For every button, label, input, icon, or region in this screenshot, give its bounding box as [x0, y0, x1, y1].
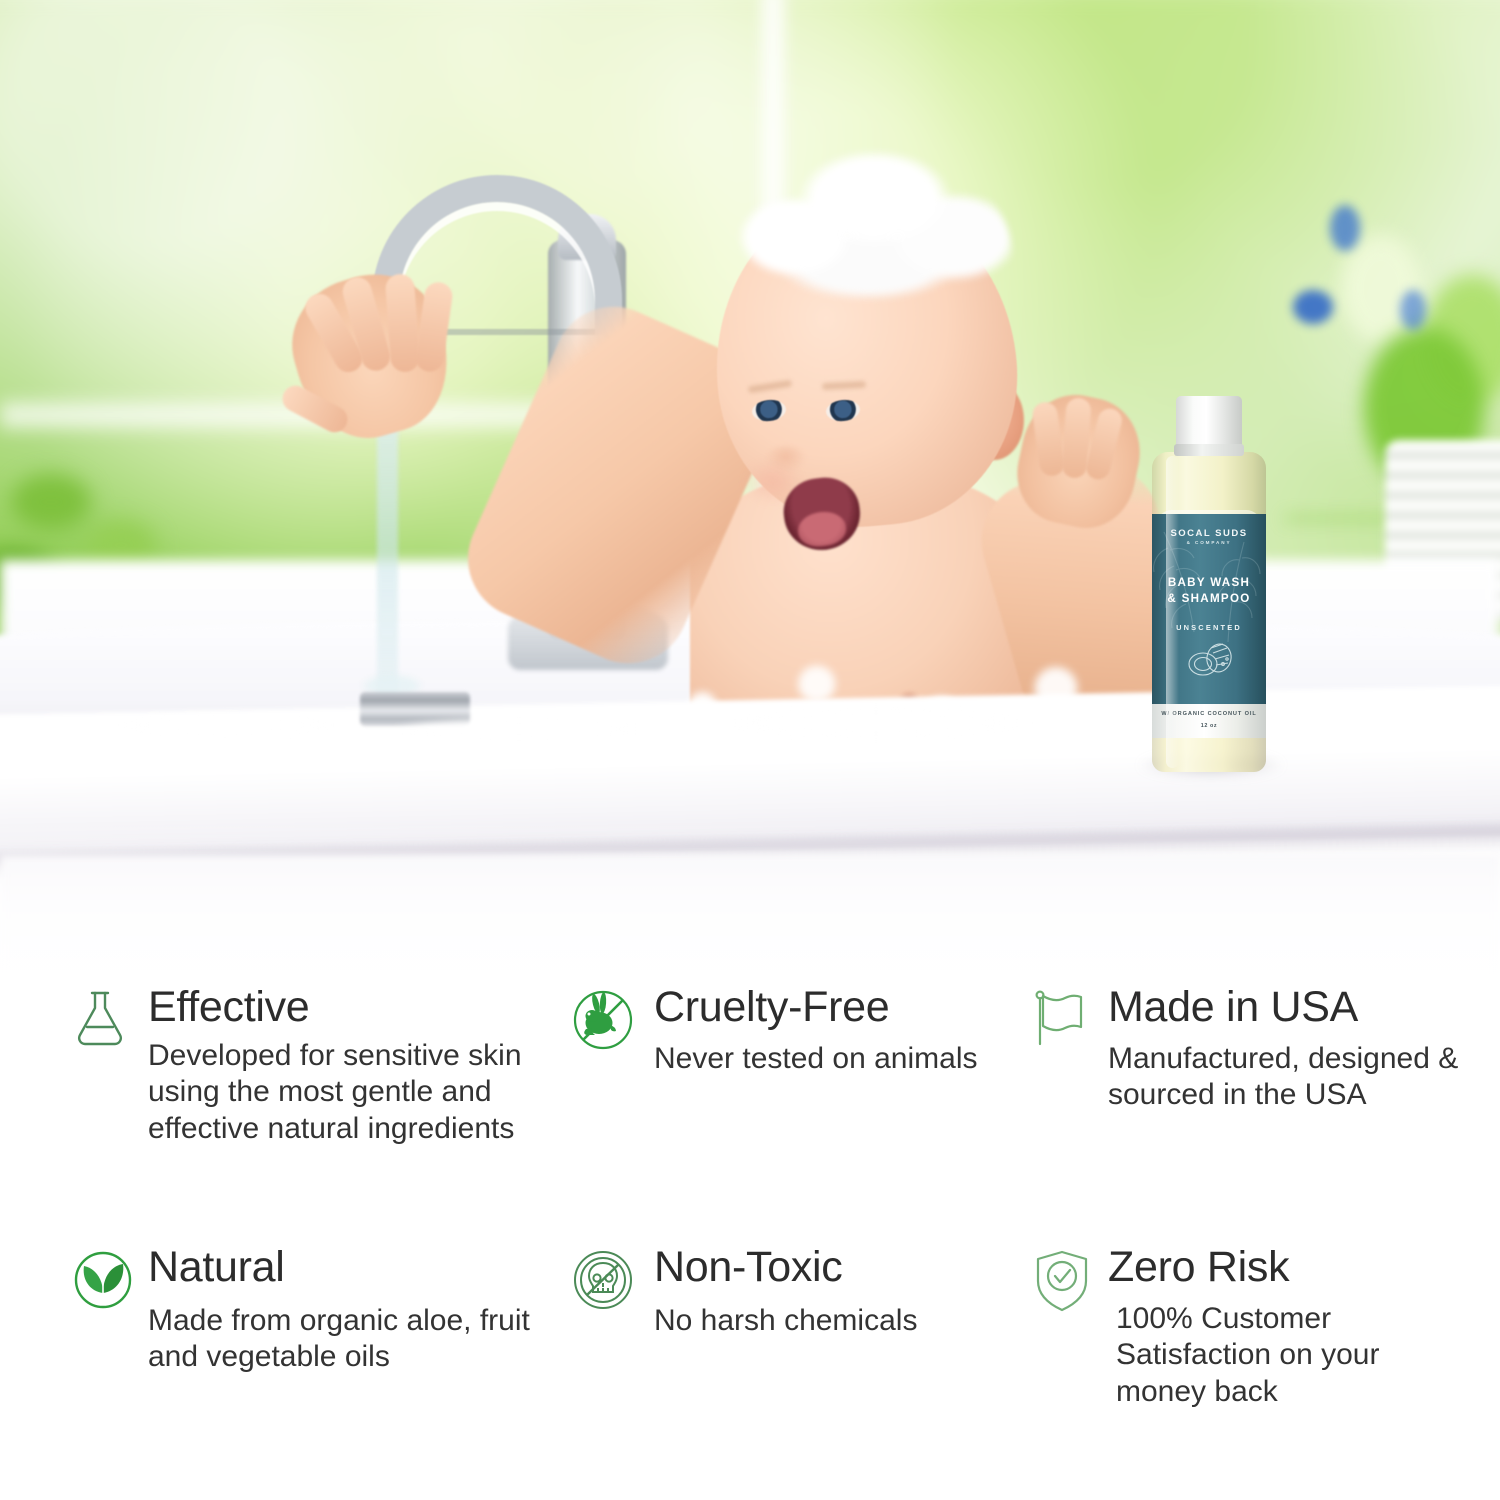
features-grid: Effective Developed for sensitive skin u…	[0, 985, 1500, 1500]
photo-white-fade	[0, 820, 1500, 1000]
feature-title: Non-Toxic	[654, 1245, 1032, 1291]
feature-cruelty-free-body: Cruelty-Free Never tested on animals	[648, 985, 1032, 1077]
feature-natural: Natural Made from organic aloe, fruit an…	[72, 1245, 572, 1500]
feature-title: Effective	[148, 985, 572, 1031]
feature-non-toxic-body: Non-Toxic No harsh chemicals	[648, 1245, 1032, 1339]
feature-zero-risk-body: Zero Risk 100% Customer Satisfaction on …	[1108, 1245, 1472, 1410]
blue-flower	[1330, 205, 1360, 251]
bottle-cap-lip	[1174, 444, 1244, 456]
hero-photo	[0, 0, 1500, 1000]
feature-description: Manufactured, designed & sourced in the …	[1108, 1041, 1472, 1114]
product-bottle: SOCAL SUDS & COMPANY BABY WASH & SHAMPOO…	[1152, 396, 1266, 772]
feature-description: Made from organic aloe, fruit and vegeta…	[148, 1303, 572, 1376]
water-stream	[377, 400, 398, 700]
rabbit-no-test-icon	[572, 985, 648, 1051]
baby-nose	[766, 446, 806, 472]
feature-description: Developed for sensitive skin using the m…	[148, 1038, 572, 1148]
bottle-cap	[1176, 396, 1242, 448]
coconut-illustration-icon	[1183, 640, 1237, 680]
feature-title: Made in USA	[1108, 985, 1472, 1031]
feature-title: Natural	[148, 1245, 572, 1291]
feature-title: Zero Risk	[1108, 1245, 1472, 1291]
bottle-highlight	[1166, 456, 1179, 768]
skull-no-toxin-icon	[572, 1245, 648, 1311]
feature-made-in-usa-body: Made in USA Manufactured, designed & sou…	[1108, 985, 1472, 1114]
leaf-circle-icon	[72, 1245, 148, 1311]
feature-description: No harsh chemicals	[654, 1303, 1032, 1340]
feature-cruelty-free: Cruelty-Free Never tested on animals	[572, 985, 1032, 1245]
feature-non-toxic: Non-Toxic No harsh chemicals	[572, 1245, 1032, 1500]
blue-flower	[1400, 290, 1426, 330]
flask-icon	[72, 985, 148, 1049]
feature-effective: Effective Developed for sensitive skin u…	[72, 985, 572, 1245]
product-listing-image: SOCAL SUDS & COMPANY BABY WASH & SHAMPOO…	[0, 0, 1500, 1500]
feature-natural-body: Natural Made from organic aloe, fruit an…	[148, 1245, 572, 1376]
feature-description: 100% Customer Satisfaction on your money…	[1108, 1301, 1472, 1411]
feature-title: Cruelty-Free	[654, 985, 1032, 1031]
flag-icon	[1032, 985, 1108, 1051]
blue-flower	[1293, 290, 1333, 324]
feature-zero-risk: Zero Risk 100% Customer Satisfaction on …	[1032, 1245, 1472, 1500]
shield-check-icon	[1032, 1245, 1108, 1313]
feature-description: Never tested on animals	[654, 1041, 1032, 1078]
feature-effective-body: Effective Developed for sensitive skin u…	[148, 985, 572, 1147]
foam-along-sink-edge	[120, 705, 1170, 745]
feature-made-in-usa: Made in USA Manufactured, designed & sou…	[1032, 985, 1472, 1245]
